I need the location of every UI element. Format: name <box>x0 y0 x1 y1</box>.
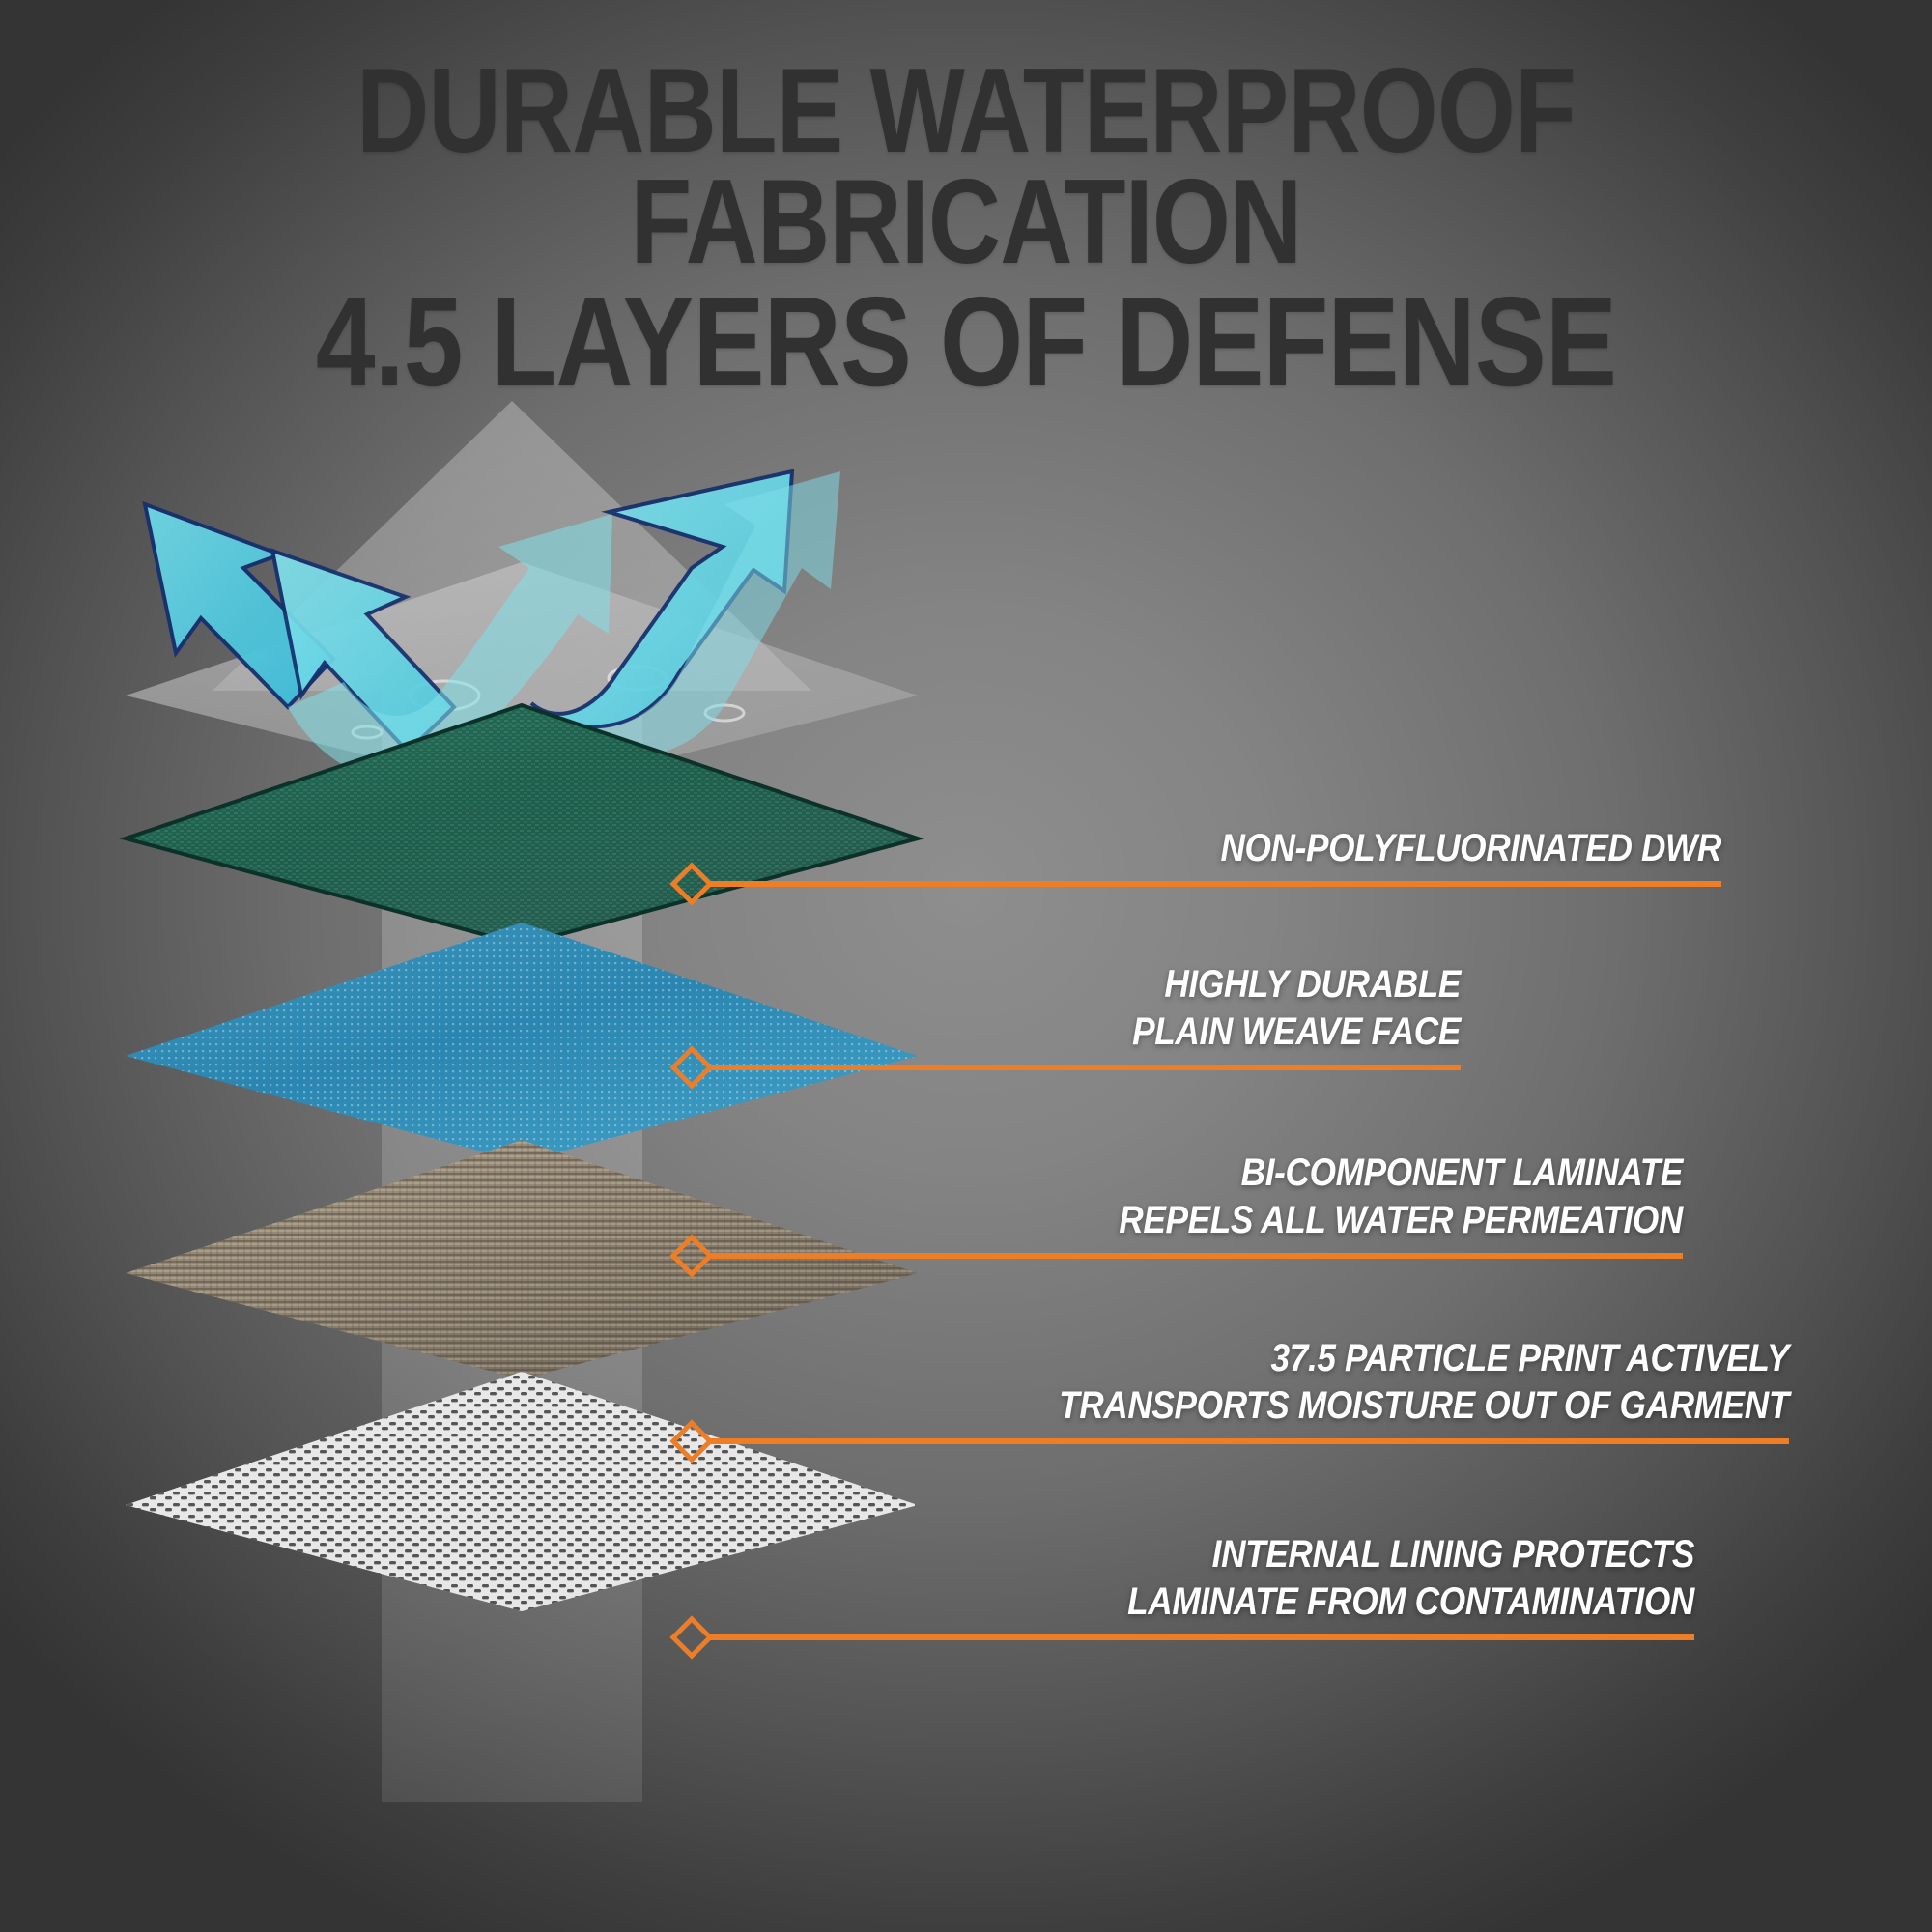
fabric-layer-stack <box>126 454 918 1758</box>
callout-label-internal-lining: INTERNAL LINING PROTECTS LAMINATE FROM C… <box>844 1531 1694 1626</box>
title-line-1: DURABLE WATERPROOF FABRICATION <box>155 56 1777 279</box>
callout-label-plain-weave-face: HIGHLY DURABLE PLAIN WEAVE FACE <box>696 961 1461 1056</box>
callout-lead-line <box>709 1253 1683 1259</box>
callout-label-dwr: NON-POLYFLUORINATED DWR <box>956 825 1721 872</box>
callout-lead-line <box>709 1634 1694 1640</box>
page-title: DURABLE WATERPROOF FABRICATION 4.5 LAYER… <box>0 56 1932 401</box>
internal-lining-layer[interactable] <box>126 1362 918 1710</box>
callout-label-particle-print: 37.5 PARTICLE PRINT ACTIVELY TRANSPORTS … <box>854 1335 1789 1430</box>
callout-label-bi-component-laminate: BI-COMPONENT LAMINATE REPELS ALL WATER P… <box>833 1150 1683 1244</box>
title-line-2: 4.5 LAYERS OF DEFENSE <box>155 283 1777 402</box>
callout-lead-line <box>709 881 1721 887</box>
callout-lead-line <box>709 1065 1461 1070</box>
infographic-canvas: DURABLE WATERPROOF FABRICATION 4.5 LAYER… <box>0 0 1932 1932</box>
callout-lead-line <box>709 1438 1789 1444</box>
